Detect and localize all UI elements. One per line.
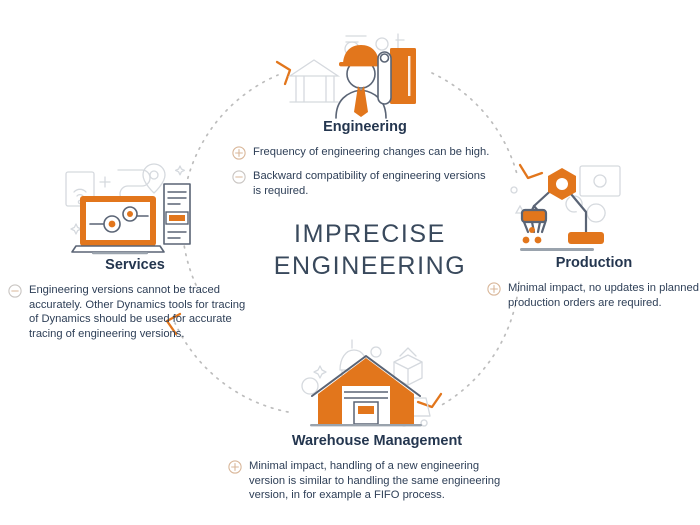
node-title-production: Production [499,254,689,272]
bullet-text: Frequency of engineering changes can be … [253,145,489,160]
infographic-canvas: IMPRECISE ENGINEERING Engineering Freque… [0,0,700,525]
node-title-services: Services [22,256,248,274]
bullet-text: Minimal impact, handling of a new engine… [249,459,513,503]
bullet-text: Backward compatibility of engineering ve… [253,169,494,198]
node-block-engineering: Engineering Frequency of engineering cha… [232,118,494,198]
plus-badge-icon [228,460,242,474]
bullet-text: Minimal impact, no updates in planned pr… [508,281,700,310]
bullet-item: Frequency of engineering changes can be … [232,145,494,160]
node-title-engineering: Engineering [246,118,484,136]
bullet-item: Backward compatibility of engineering ve… [232,169,494,198]
minus-badge-icon [232,170,246,184]
bullet-item: Minimal impact, no updates in planned pr… [487,281,700,310]
bullet-item: Minimal impact, handling of a new engine… [228,459,513,503]
plus-badge-icon [487,282,501,296]
node-title-warehouse: Warehouse Management [242,432,512,450]
node-block-production: Production Minimal impact, no updates in… [487,254,700,310]
minus-badge-icon [8,284,22,298]
bullet-text: Engineering versions cannot be traced ac… [29,283,248,341]
warehouse-building-icon [296,336,436,432]
laptop-with-gears-and-mobile-icon [62,158,198,256]
plus-badge-icon [232,146,246,160]
bullet-item: Engineering versions cannot be traced ac… [8,283,248,341]
center-title: IMPRECISE ENGINEERING [250,218,490,282]
node-block-services: Services Engineering versions cannot be … [8,256,248,341]
node-block-warehouse: Warehouse Management Minimal impact, han… [228,432,513,503]
robotic-arm-icon [500,160,626,256]
engineer-with-hardhat-and-blueprint-icon [286,30,426,122]
